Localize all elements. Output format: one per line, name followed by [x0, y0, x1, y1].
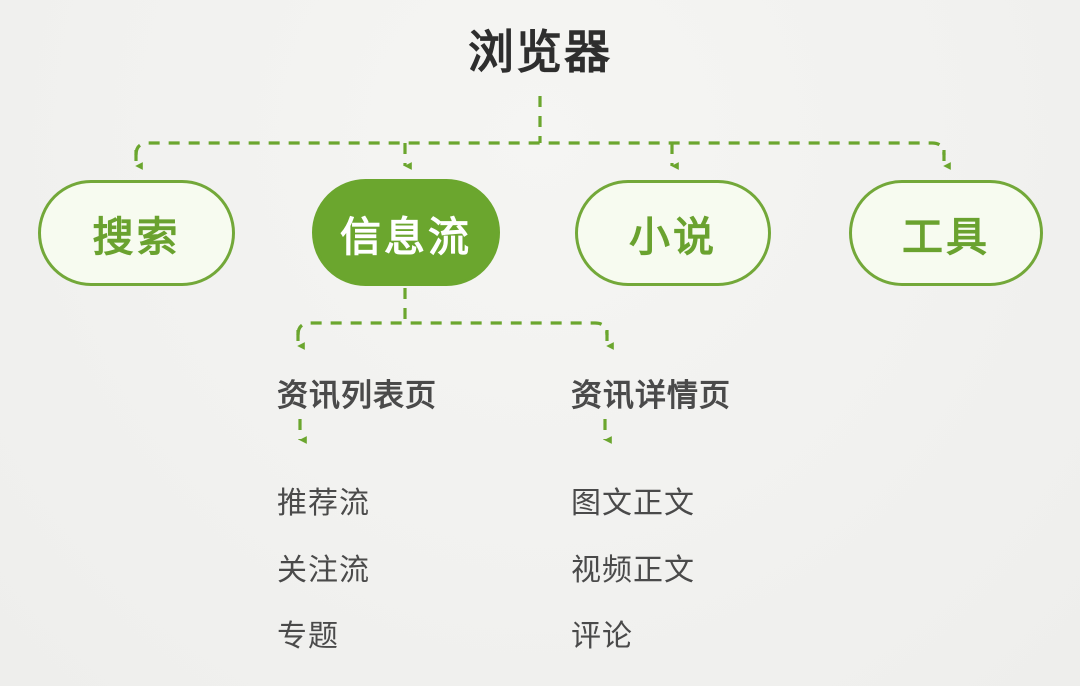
- node-information-feed-label: 信息流: [340, 203, 472, 263]
- node-tools[interactable]: 工具: [849, 180, 1043, 286]
- node-search-label: 搜索: [93, 203, 181, 263]
- connector-lines: [0, 0, 1080, 686]
- node-information-feed[interactable]: 信息流: [312, 179, 500, 286]
- leaf-comments[interactable]: 评论: [571, 611, 633, 655]
- node-novel[interactable]: 小说: [575, 180, 771, 286]
- branch-heading-news-detail[interactable]: 资讯详情页: [571, 370, 731, 415]
- leaf-special-topic[interactable]: 专题: [277, 611, 339, 655]
- leaf-recommendation-feed[interactable]: 推荐流: [277, 478, 370, 522]
- diagram-canvas: 浏览器 搜索 信息流 小说 工具 资讯列表页 资讯详情页 推荐流 关注流 专题 …: [0, 0, 1080, 686]
- leaf-article-body[interactable]: 图文正文: [571, 478, 695, 522]
- node-novel-label: 小说: [629, 203, 717, 263]
- node-search[interactable]: 搜索: [38, 180, 235, 286]
- wire-level1-bus: [136, 143, 944, 155]
- leaf-following-feed[interactable]: 关注流: [277, 545, 370, 589]
- page-title: 浏览器: [0, 24, 1080, 82]
- wire-level2-bus: [298, 323, 607, 335]
- leaf-video-body[interactable]: 视频正文: [571, 545, 695, 589]
- node-tools-label: 工具: [902, 203, 990, 263]
- branch-heading-news-list[interactable]: 资讯列表页: [277, 370, 437, 415]
